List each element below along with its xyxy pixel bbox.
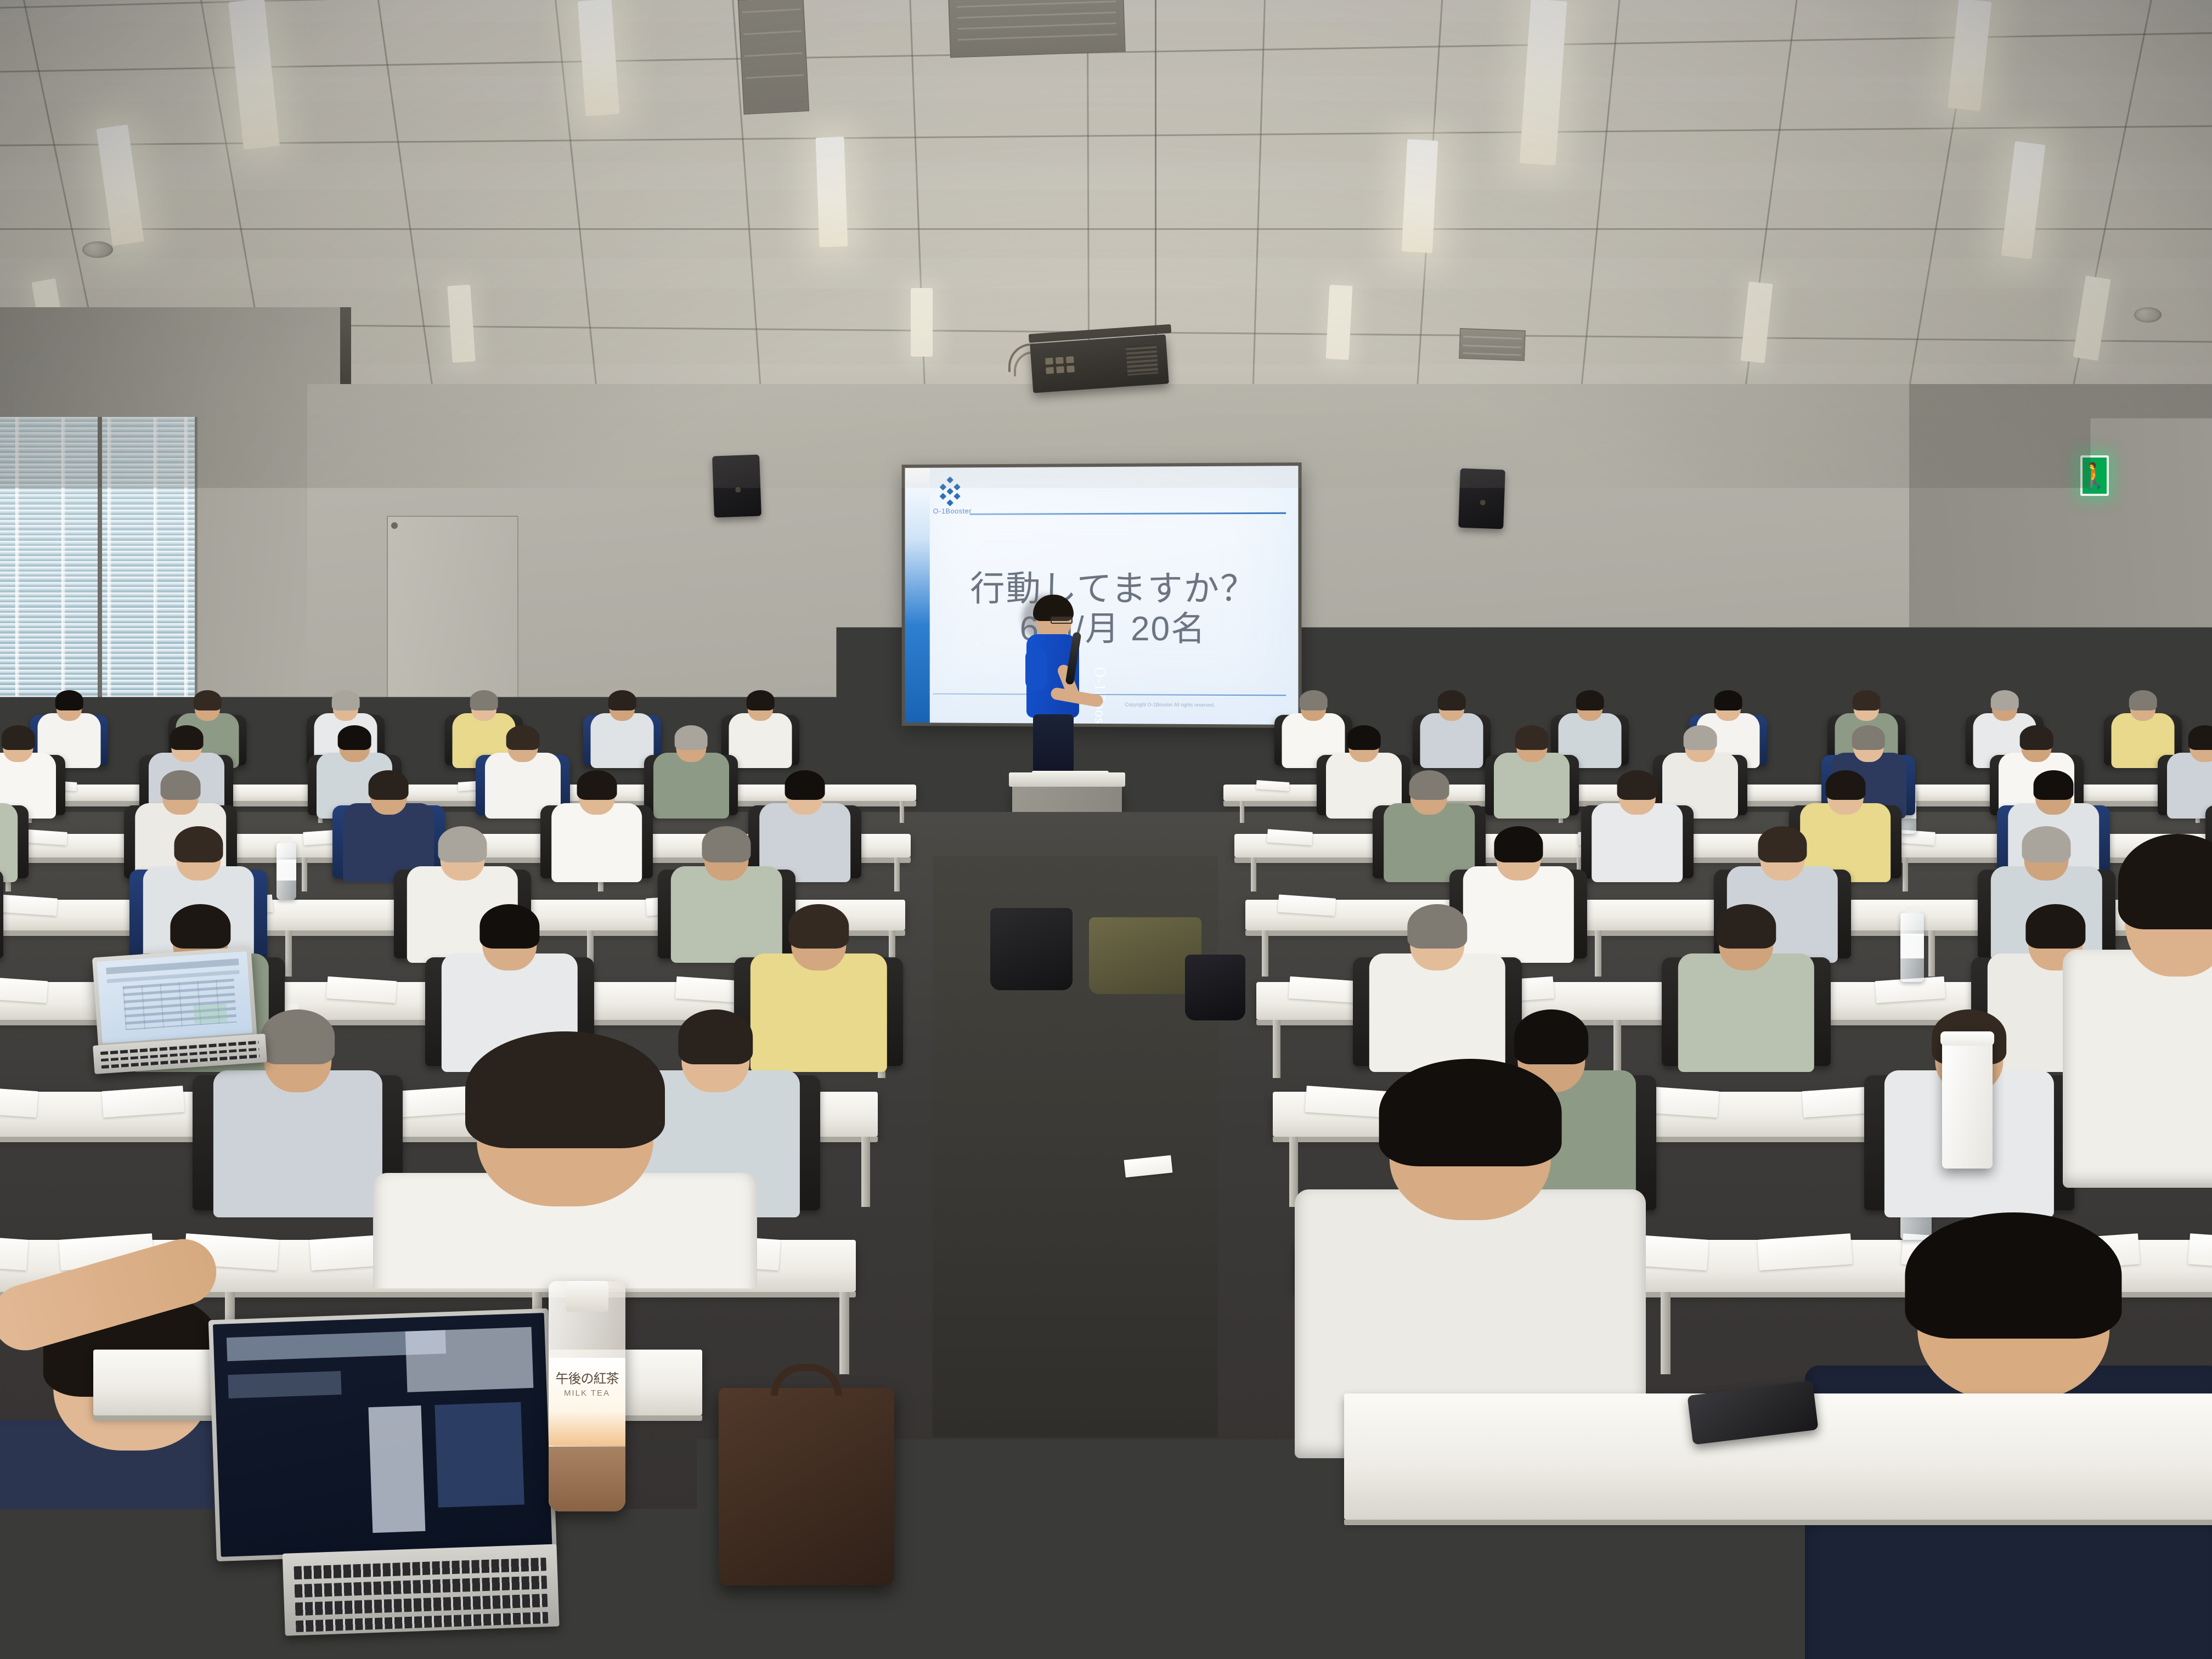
person-body (591, 713, 654, 768)
desk-leg (302, 857, 307, 891)
slide-footer-rule (933, 693, 1286, 696)
person-hair (2020, 725, 2053, 750)
person-hair (577, 770, 617, 800)
person-hair (747, 690, 775, 710)
desk-leg (1273, 1020, 1280, 1078)
bag-dark-right (1185, 955, 1245, 1020)
person-hair (171, 904, 230, 949)
milk-tea-bottle: 午後の紅茶 MILK TEA (549, 1281, 625, 1511)
person-hair (1758, 826, 1807, 862)
slide-sidebar (905, 468, 930, 723)
person-hair (1515, 725, 1549, 750)
seminar-room-photo: 🚶 O-1Booster O-1Booster 行動してますか？ 6回/月 20… (0, 0, 2212, 1659)
bottle-cap (566, 1281, 608, 1312)
person-hair (506, 725, 540, 750)
bottle-label: 午後の紅茶 MILK TEA (549, 1358, 625, 1446)
person-hair (1714, 690, 1742, 710)
person-body (2167, 753, 2212, 819)
person-body (0, 803, 18, 882)
laptop-lid (92, 946, 257, 1048)
ceiling-light-6 (1402, 139, 1438, 253)
desk-leg (1928, 930, 1935, 977)
person-body (1678, 953, 1814, 1072)
person-hair (332, 690, 360, 710)
person-hair (2118, 834, 2212, 929)
desk-leg (1661, 1292, 1671, 1374)
mid-person-center-right (1295, 1059, 1646, 1443)
person-hair (1379, 1059, 1562, 1166)
audience-member (1420, 690, 1483, 774)
slide-line-1: 行動してますか？ (970, 570, 1257, 608)
desk-leg (1262, 930, 1268, 977)
window-mullion (98, 417, 102, 713)
water-bottle (1900, 913, 1924, 982)
laptop-screen (97, 951, 252, 1043)
person-hair (1347, 725, 1380, 750)
person-body (551, 803, 642, 882)
audience-member (0, 770, 18, 890)
projector-vent (1126, 344, 1159, 376)
bag-black (990, 908, 1073, 990)
desk-leg (1240, 801, 1244, 823)
person-hair (1852, 725, 1885, 750)
person-hair (479, 904, 539, 949)
presenter (1018, 598, 1084, 790)
person-hair (1576, 690, 1604, 710)
person-hair (55, 690, 83, 710)
air-vent-main (948, 0, 1126, 58)
person-hair (1825, 770, 1865, 800)
person-body (1494, 753, 1570, 819)
bottle-liquid (549, 1447, 625, 1511)
desk-paper (0, 1086, 38, 1118)
bottle-label-en: MILK TEA (549, 1389, 625, 1398)
air-vent-left (738, 0, 810, 115)
person-hair (161, 770, 201, 800)
person-hair (674, 725, 708, 750)
person-hair (170, 725, 203, 750)
suspension-wire (1155, 0, 1156, 335)
desk-leg (839, 1292, 849, 1374)
desk-leg (285, 930, 292, 977)
person-hair (1407, 904, 1467, 949)
person-hair (785, 770, 825, 800)
person-body (1592, 803, 1683, 882)
person-body (213, 1070, 382, 1217)
person-hair (465, 1031, 665, 1148)
person-hair (369, 770, 409, 800)
person-hair (2, 725, 35, 750)
laptop-macbook[interactable] (208, 1308, 571, 1649)
person-hair (261, 1009, 335, 1064)
emergency-exit-sign: 🚶 (2080, 455, 2109, 496)
person-hair (1494, 826, 1543, 862)
person-hair (1438, 690, 1466, 710)
foreground-person-far-right (2063, 834, 2212, 1174)
person-body (1420, 713, 1483, 768)
person-hair (1409, 770, 1449, 800)
person-body (653, 753, 729, 819)
person-hair (1300, 690, 1328, 710)
audience-member (2167, 725, 2212, 825)
desk-paper (0, 977, 48, 1003)
ceiling-light-5 (816, 137, 848, 247)
desk-leg (894, 857, 900, 891)
slide-copyright: Copyright O-1Booster All rights reserved… (1125, 702, 1215, 708)
slide-body: 行動してますか？ 6回/月 20名 (930, 527, 1299, 692)
running-person-icon: 🚶 (2080, 463, 2109, 488)
brochure-top-text: パンフレット (1654, 1517, 1697, 1533)
wall-speaker-left (712, 455, 761, 518)
macbook-lid (208, 1308, 557, 1561)
desk-leg (1251, 857, 1256, 891)
person-hair (789, 904, 849, 949)
brochure-badge-text: 中小企業 成長促進 (1711, 1605, 1771, 1621)
glasses-icon (1051, 617, 1073, 624)
desk-paper (101, 1086, 184, 1118)
desk-leg (1903, 857, 1908, 891)
person-hair (438, 826, 487, 862)
macbook-screen (213, 1313, 552, 1557)
desk-leg (861, 1137, 870, 1207)
audience-member (551, 770, 642, 890)
lectern-top (1009, 772, 1125, 787)
slide-content: O-1Booster O-1Booster 行動してますか？ 6回/月 20名 … (905, 466, 1299, 725)
person-hair (194, 690, 222, 710)
presenter-sleeve (1025, 648, 1047, 690)
projection-screen: O-1Booster O-1Booster 行動してますか？ 6回/月 20名 … (902, 462, 1302, 728)
briefcase (719, 1388, 894, 1585)
water-bottle (276, 843, 296, 900)
door-hinge (391, 522, 398, 529)
air-vent-right (1459, 328, 1526, 361)
person-hair (2188, 725, 2212, 750)
audience-member (1678, 904, 1814, 1084)
person-hair (1905, 1212, 2121, 1339)
projector-buttons[interactable] (1045, 356, 1075, 374)
audience-member (729, 690, 792, 774)
audience-member (1592, 770, 1683, 890)
person-hair (2129, 690, 2157, 710)
person-hair (1617, 770, 1657, 800)
person-hair (1853, 690, 1881, 710)
person-hair (608, 690, 636, 710)
window-with-blinds (0, 417, 198, 713)
person-hair (2034, 770, 2074, 800)
person-body (729, 713, 792, 768)
person-hair (470, 690, 498, 710)
ceiling-light-10 (911, 288, 933, 357)
sprinkler-head-left (82, 241, 113, 258)
thermos-tumbler (1942, 1031, 1993, 1169)
wall-speaker-right (1458, 469, 1505, 529)
audience-member (1494, 725, 1570, 825)
desk-leg (900, 801, 904, 823)
person-hair (702, 826, 751, 862)
slide-header-rule (970, 512, 1286, 515)
laptop-spreadsheet[interactable] (87, 946, 270, 1076)
person-hair (1716, 904, 1776, 949)
person-hair (174, 826, 223, 862)
bottle-label-jp: 午後の紅茶 (549, 1368, 625, 1387)
macbook-keyboard[interactable] (283, 1544, 560, 1635)
person-hair (338, 725, 371, 750)
ceiling-projector (1030, 334, 1169, 393)
sprinkler-head-right (2134, 307, 2162, 323)
o1booster-logo-icon (936, 477, 964, 506)
person-hair (1684, 725, 1717, 750)
person-hair (1514, 1009, 1589, 1064)
ceiling-light-11 (1325, 285, 1352, 360)
audience-member (653, 725, 729, 825)
tumbler-lid (1940, 1031, 1994, 1046)
chair[interactable] (0, 870, 3, 958)
person-hair (1991, 690, 2019, 710)
person-body (2063, 950, 2212, 1188)
desk-leg (1595, 930, 1601, 977)
slide-brand-text: O-1Booster (933, 507, 972, 515)
